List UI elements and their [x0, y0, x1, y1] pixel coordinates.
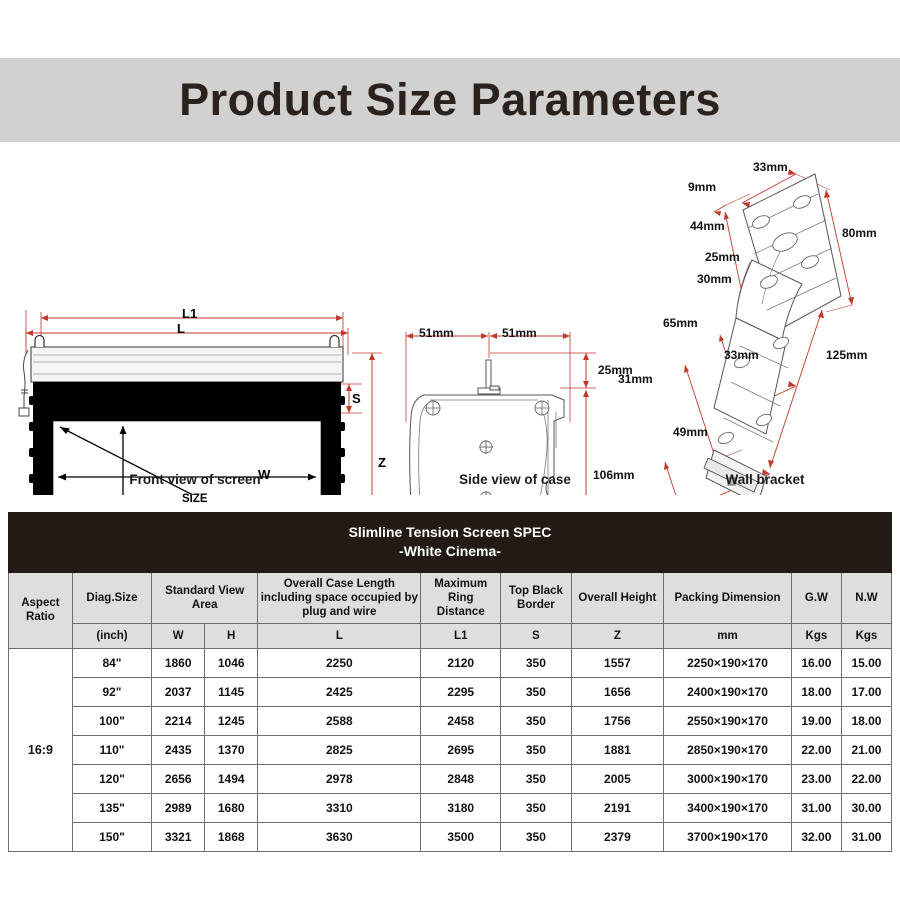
cell-pack: 3700×190×170 — [664, 822, 792, 851]
header-maximum-ring-distance: Maximum Ring Distance — [421, 572, 501, 623]
table-row: 100" 2214 1245 2588 2458 350 1756 2550×1… — [9, 706, 892, 735]
cell-pack: 3000×190×170 — [664, 764, 792, 793]
table-row: 16:9 84" 1860 1046 2250 2120 350 1557 22… — [9, 648, 892, 677]
cell-gw: 19.00 — [791, 706, 841, 735]
cell-pack: 3400×190×170 — [664, 793, 792, 822]
diagram-section: L1 L S Z W H SIZE Front view of screen — [0, 150, 900, 495]
cell-w: 2656 — [152, 764, 205, 793]
unit-pack: mm — [664, 623, 792, 648]
unit-s: S — [501, 623, 572, 648]
cell-l: 2250 — [258, 648, 421, 677]
cell-nw: 30.00 — [841, 793, 891, 822]
spec-title-line2: -White Cinema- — [9, 542, 891, 561]
unit-z: Z — [571, 623, 663, 648]
front-view-diagram: L1 L S Z W H SIZE Front view of screen — [0, 150, 390, 495]
bracket-label-arm-length: 65mm — [663, 316, 698, 330]
front-view-drawing — [0, 150, 390, 495]
table-row: 150" 3321 1868 3630 3500 350 2379 3700×1… — [9, 822, 892, 851]
cell-diag: 92" — [72, 677, 151, 706]
cell-l1: 2295 — [421, 677, 501, 706]
unit-w: W — [152, 623, 205, 648]
front-label-l1: L1 — [182, 306, 197, 321]
cell-z: 2005 — [571, 764, 663, 793]
side-label-right-width: 51mm — [502, 326, 537, 340]
cell-gw: 22.00 — [791, 735, 841, 764]
header-aspect-ratio: Aspect Ratio — [9, 572, 73, 648]
bracket-label-top-width: 33mm — [753, 160, 788, 174]
cell-nw: 17.00 — [841, 677, 891, 706]
cell-h: 1494 — [205, 764, 258, 793]
cell-h: 1370 — [205, 735, 258, 764]
cell-gw: 31.00 — [791, 793, 841, 822]
cell-z: 2191 — [571, 793, 663, 822]
cell-l1: 2695 — [421, 735, 501, 764]
cell-diag: 110" — [72, 735, 151, 764]
cell-w: 2037 — [152, 677, 205, 706]
cell-nw: 21.00 — [841, 735, 891, 764]
bracket-label-lower-offset: 25mm — [705, 250, 740, 264]
bracket-label-plate-offset: 30mm — [697, 272, 732, 286]
cell-gw: 23.00 — [791, 764, 841, 793]
wall-bracket-caption: Wall bracket — [630, 472, 900, 487]
aspect-ratio-cell: 16:9 — [9, 648, 73, 851]
cell-pack: 2550×190×170 — [664, 706, 792, 735]
cell-nw: 22.00 — [841, 764, 891, 793]
cell-l1: 3500 — [421, 822, 501, 851]
bracket-label-overall-length: 125mm — [826, 348, 867, 362]
unit-nw: Kgs — [841, 623, 891, 648]
unit-l1: L1 — [421, 623, 501, 648]
cell-z: 2379 — [571, 822, 663, 851]
cell-s: 350 — [501, 764, 572, 793]
wall-bracket-diagram: 33mm 9mm 44mm 25mm 30mm 65mm 33mm 31mm 4… — [630, 150, 900, 495]
cell-nw: 15.00 — [841, 648, 891, 677]
bracket-label-mid-width: 33mm — [724, 348, 759, 362]
cell-l: 3630 — [258, 822, 421, 851]
header-diag-size: Diag.Size — [72, 572, 151, 623]
unit-l: L — [258, 623, 421, 648]
spec-table: Slimline Tension Screen SPEC -White Cine… — [8, 512, 892, 852]
header-standard-view-area: Standard View Area — [152, 572, 258, 623]
cell-gw: 16.00 — [791, 648, 841, 677]
cell-gw: 32.00 — [791, 822, 841, 851]
cell-h: 1046 — [205, 648, 258, 677]
cell-z: 1656 — [571, 677, 663, 706]
cell-s: 350 — [501, 793, 572, 822]
spec-table-title-row: Slimline Tension Screen SPEC -White Cine… — [9, 513, 892, 573]
cell-s: 350 — [501, 648, 572, 677]
spec-title-line1: Slimline Tension Screen SPEC — [9, 523, 891, 542]
spec-table-body: 16:9 84" 1860 1046 2250 2120 350 1557 22… — [9, 648, 892, 851]
table-row: 110" 2435 1370 2825 2695 350 1881 2850×1… — [9, 735, 892, 764]
cell-z: 1557 — [571, 648, 663, 677]
spec-unit-row: (inch) W H L L1 S Z mm Kgs Kgs — [9, 623, 892, 648]
unit-h: H — [205, 623, 258, 648]
bracket-label-slot-length: 44mm — [690, 219, 725, 233]
cell-nw: 18.00 — [841, 706, 891, 735]
title-banner: Product Size Parameters — [0, 58, 900, 142]
page-title: Product Size Parameters — [179, 74, 721, 126]
cell-nw: 31.00 — [841, 822, 891, 851]
front-view-caption: Front view of screen — [0, 472, 390, 487]
cell-l1: 2120 — [421, 648, 501, 677]
bracket-label-base-width: 49mm — [673, 425, 708, 439]
cell-w: 2435 — [152, 735, 205, 764]
header-overall-height: Overall Height — [571, 572, 663, 623]
cell-s: 350 — [501, 735, 572, 764]
unit-gw: Kgs — [791, 623, 841, 648]
cell-l1: 2848 — [421, 764, 501, 793]
cell-z: 1881 — [571, 735, 663, 764]
side-label-left-width: 51mm — [419, 326, 454, 340]
cell-h: 1245 — [205, 706, 258, 735]
cell-diag: 100" — [72, 706, 151, 735]
cell-s: 350 — [501, 822, 572, 851]
cell-pack: 2850×190×170 — [664, 735, 792, 764]
cell-l: 3310 — [258, 793, 421, 822]
cell-diag: 84" — [72, 648, 151, 677]
front-label-l: L — [177, 321, 185, 336]
cell-h: 1868 — [205, 822, 258, 851]
cell-l: 2425 — [258, 677, 421, 706]
cell-z: 1756 — [571, 706, 663, 735]
cell-pack: 2400×190×170 — [664, 677, 792, 706]
header-nw: N.W — [841, 572, 891, 623]
side-view-diagram: 51mm 51mm 25mm 106mm 102mm Side view of … — [390, 150, 640, 495]
front-label-size: SIZE — [182, 493, 208, 505]
cell-s: 350 — [501, 706, 572, 735]
cell-w: 2214 — [152, 706, 205, 735]
cell-w: 2989 — [152, 793, 205, 822]
cell-pack: 2250×190×170 — [664, 648, 792, 677]
cell-h: 1145 — [205, 677, 258, 706]
bracket-label-side-height: 80mm — [842, 226, 877, 240]
cell-diag: 150" — [72, 822, 151, 851]
cell-w: 3321 — [152, 822, 205, 851]
cell-l: 2588 — [258, 706, 421, 735]
header-overall-case-length: Overall Case Length including space occu… — [258, 572, 421, 623]
front-label-z: Z — [378, 455, 386, 470]
side-view-drawing — [390, 150, 640, 495]
cell-h: 1680 — [205, 793, 258, 822]
cell-l1: 2458 — [421, 706, 501, 735]
spec-table-title: Slimline Tension Screen SPEC -White Cine… — [9, 513, 892, 573]
bracket-label-edge-offset: 9mm — [688, 180, 716, 194]
table-row: 92" 2037 1145 2425 2295 350 1656 2400×19… — [9, 677, 892, 706]
header-gw: G.W — [791, 572, 841, 623]
table-row: 135" 2989 1680 3310 3180 350 2191 3400×1… — [9, 793, 892, 822]
header-top-black-border: Top Black Border — [501, 572, 572, 623]
table-row: 120" 2656 1494 2978 2848 350 2005 3000×1… — [9, 764, 892, 793]
cell-l: 2978 — [258, 764, 421, 793]
side-view-caption: Side view of case — [390, 472, 640, 487]
cell-gw: 18.00 — [791, 677, 841, 706]
spec-header-row: Aspect Ratio Diag.Size Standard View Are… — [9, 572, 892, 623]
cell-l: 2825 — [258, 735, 421, 764]
cell-s: 350 — [501, 677, 572, 706]
cell-w: 1860 — [152, 648, 205, 677]
cell-diag: 135" — [72, 793, 151, 822]
bracket-label-base-height: 31mm — [618, 372, 653, 386]
unit-diag: (inch) — [72, 623, 151, 648]
front-label-s: S — [352, 391, 361, 406]
cell-l1: 3180 — [421, 793, 501, 822]
header-packing-dimension: Packing Dimension — [664, 572, 792, 623]
cell-diag: 120" — [72, 764, 151, 793]
